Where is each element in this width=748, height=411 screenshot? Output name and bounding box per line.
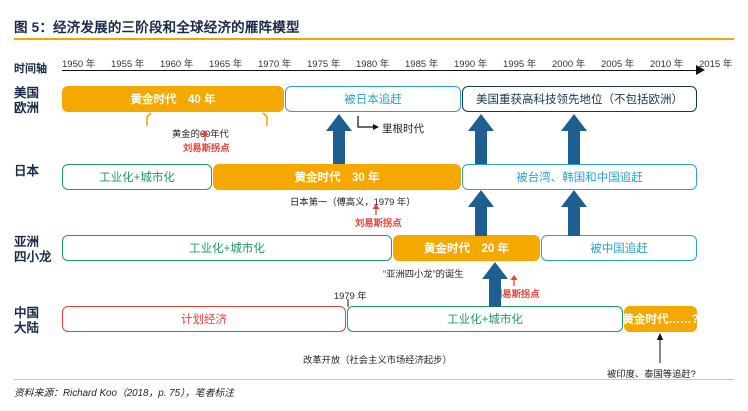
bar-china-golden-age: 黄金时代……? [624, 306, 697, 332]
axis-tick: 1965 年 [209, 56, 242, 70]
axis-ticks: 1950 年 1955 年 1960 年 1965 年 1970 年 1975 … [62, 56, 702, 68]
lewis-point-arrow-2-icon [369, 204, 383, 216]
bar-us-chased-by-japan: 被日本追赶 [285, 86, 461, 112]
bar-tigers-chased-by-china: 被中国追赶 [541, 235, 697, 261]
bar-us-regain-tech-lead: 美国重获高科技领先地位（不包括欧洲） [462, 86, 697, 112]
axis-tick: 1950 年 [62, 56, 95, 70]
lewis-point-arrow-1-icon [198, 130, 212, 142]
flying-geese-arrow-china-to-us-icon [560, 114, 588, 164]
source-divider [14, 379, 734, 380]
annotation-reagan-era: 里根时代 [382, 121, 424, 136]
row-label-line1: 日本 [14, 164, 39, 179]
china-chased-arrow-icon [653, 333, 667, 363]
reagan-era-arrow-icon [356, 114, 380, 132]
row-label-asian-tigers: 亚洲 四小龙 [14, 235, 52, 265]
flying-geese-arrow-japan-to-us-icon [325, 114, 353, 164]
source-note: 资料来源：Richard Koo（2018，p. 75），笔者标注 [14, 385, 234, 399]
bar-tigers-industrialization: 工业化+城市化 [62, 235, 392, 261]
axis-tick: 1960 年 [160, 56, 193, 70]
timeline-axis [62, 70, 698, 71]
figure-title: 图 5：经济发展的三阶段和全球经济的雁阵模型 [14, 16, 300, 36]
axis-tick: 1985 年 [405, 56, 438, 70]
flying-geese-arrow-tigers-to-us-icon [467, 114, 495, 164]
bar-japan-golden-age: 黄金时代 30 年 [213, 164, 461, 190]
china-1979-tick-icon [345, 299, 351, 307]
axis-label: 时间轴 [14, 60, 47, 76]
axis-tick: 1970 年 [258, 56, 291, 70]
flying-geese-arrow-china-to-tigers-icon [481, 262, 509, 307]
bar-china-planned-economy: 计划经济 [62, 306, 346, 332]
axis-tick: 2005 年 [601, 56, 634, 70]
row-label-line1: 中国 [14, 306, 39, 321]
axis-tick: 2015 年 [699, 56, 732, 70]
row-label-line1: 美国 [14, 86, 39, 101]
bar-japan-chased: 被台湾、韩国和中国追赶 [462, 164, 697, 190]
annotation-china-chased: 被印度、泰国等追赶? [607, 366, 696, 380]
annotation-lewis-point-2: 刘易斯拐点 [355, 215, 402, 229]
row-label-china: 中国 大陆 [14, 306, 39, 336]
bar-japan-industrialization: 工业化+城市化 [62, 164, 212, 190]
row-label-us-europe: 美国 欧洲 [14, 86, 39, 116]
annotation-tigers-birth: “亚洲四小龙”的诞生 [383, 266, 464, 280]
flying-geese-arrow-tigers-to-japan-icon [467, 190, 495, 236]
row-label-line2: 欧洲 [14, 101, 39, 116]
axis-tick: 2010 年 [650, 56, 683, 70]
axis-tick: 1955 年 [111, 56, 144, 70]
flying-geese-arrow-china-to-japan-icon [560, 190, 588, 236]
row-label-line1: 亚洲 [14, 235, 52, 250]
bar-tigers-golden-age: 黄金时代 20 年 [393, 235, 540, 261]
row-label-line2: 四小龙 [14, 250, 52, 265]
title-underline [14, 38, 734, 40]
annotation-lewis-point-1: 刘易斯拐点 [183, 140, 230, 154]
axis-tick: 2000 年 [552, 56, 585, 70]
bar-china-industrialization: 工业化+城市化 [347, 306, 623, 332]
annotation-china-reform: 改革开放（社会主义市场经济起步） [303, 352, 452, 366]
figure-canvas: 图 5：经济发展的三阶段和全球经济的雁阵模型 时间轴 1950 年 1955 年… [0, 0, 748, 411]
lewis-point-arrow-3-icon [507, 275, 521, 287]
row-label-japan: 日本 [14, 164, 39, 179]
axis-tick: 1980 年 [356, 56, 389, 70]
axis-tick: 1975 年 [307, 56, 340, 70]
annotation-japan-first: 日本第一（傅高义，1979 年） [290, 194, 416, 208]
bar-us-golden-age: 黄金时代 40 年 [62, 86, 284, 112]
axis-tick: 1990 年 [454, 56, 487, 70]
axis-tick: 1995 年 [503, 56, 536, 70]
row-label-line2: 大陆 [14, 321, 39, 336]
